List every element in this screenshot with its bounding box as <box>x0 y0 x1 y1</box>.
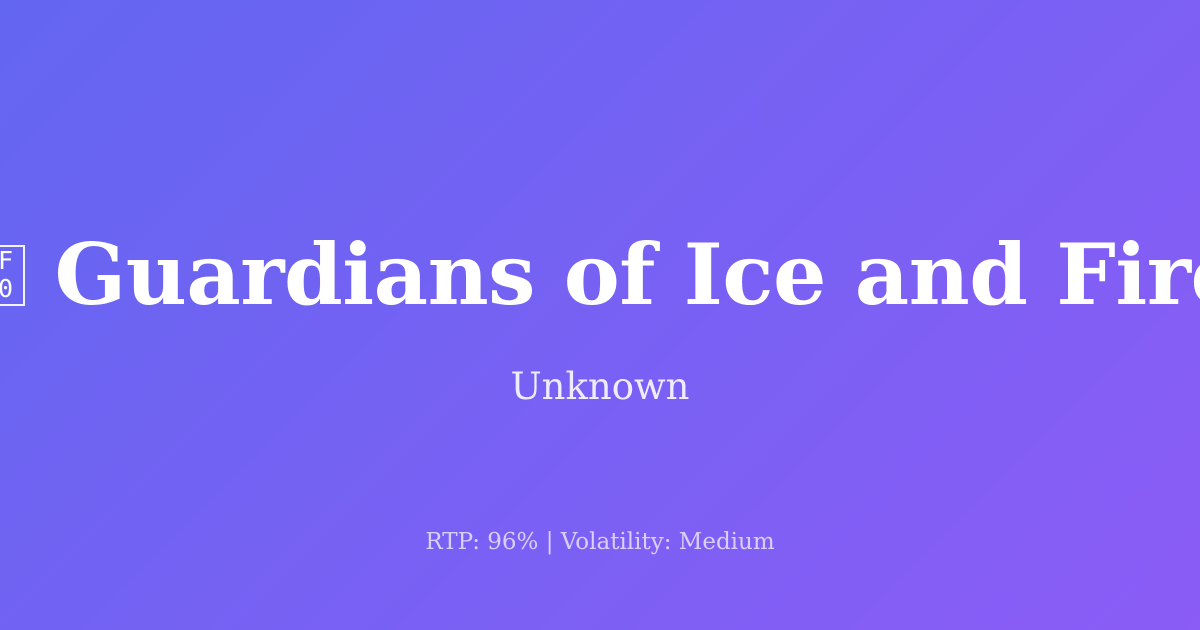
title-row: 01F 3B0 Guardians of Ice and Fire <box>0 232 1200 318</box>
slot-machine-icon-codepoint-bottom: 3B0 <box>0 275 13 303</box>
slot-machine-icon-codepoint-top: 01F <box>0 247 13 275</box>
game-meta-line: RTP: 96% | Volatility: Medium <box>0 526 1200 558</box>
game-og-card: 01F 3B0 Guardians of Ice and Fire Unknow… <box>0 0 1200 630</box>
provider-label: Unknown <box>0 363 1200 411</box>
page-title: Guardians of Ice and Fire <box>55 232 1200 318</box>
slot-machine-icon: 01F 3B0 <box>0 245 25 306</box>
